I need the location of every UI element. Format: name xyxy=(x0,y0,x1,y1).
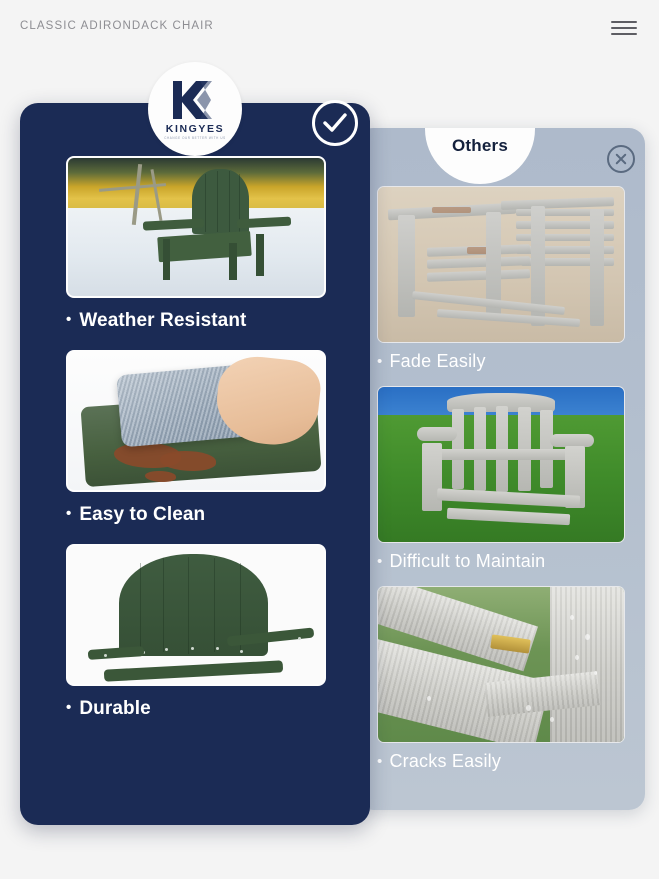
list-item: •Difficult to Maintain xyxy=(377,386,625,572)
product-comparison-page: CLASSIC ADIRONDACK CHAIR Others xyxy=(0,0,659,879)
close-circle-icon[interactable] xyxy=(607,145,635,173)
check-icon xyxy=(323,112,347,134)
weathered-grey-chair-on-grass-near-water-photo xyxy=(377,386,625,543)
brand-name: KINGYES xyxy=(166,123,224,135)
bullet-icon: • xyxy=(66,699,71,716)
cons-item-label: •Fade Easily xyxy=(377,351,625,372)
cons-item-label: •Difficult to Maintain xyxy=(377,551,625,572)
hamburger-line xyxy=(611,33,637,35)
bullet-icon: • xyxy=(377,353,382,370)
pros-item-label: •Weather Resistant xyxy=(66,310,326,332)
hamburger-line xyxy=(611,27,637,29)
page-title: CLASSIC ADIRONDACK CHAIR xyxy=(20,20,214,32)
brand-tagline: CHANGE OUR BETTER WITH US xyxy=(164,135,226,139)
check-circle-icon[interactable] xyxy=(312,100,358,146)
brand-logo: KINGYES CHANGE OUR BETTER WITH US xyxy=(148,62,242,156)
pros-item-label: •Easy to Clean xyxy=(66,504,326,526)
cons-item-label: •Cracks Easily xyxy=(377,751,625,772)
bullet-icon: • xyxy=(66,505,71,522)
green-chair-in-snow-photo xyxy=(66,156,326,298)
top-bar: CLASSIC ADIRONDACK CHAIR xyxy=(0,0,659,56)
wiping-stain-off-chair-photo xyxy=(66,350,326,492)
bullet-icon: • xyxy=(66,311,71,328)
cracked-grey-board-with-loose-brass-screw-photo xyxy=(377,586,625,743)
faded-grey-weathered-wood-chair-on-sand-photo xyxy=(377,186,625,343)
list-item: •Weather Resistant xyxy=(66,156,326,332)
pros-list: •Weather Resistant •Easy to Clean xyxy=(66,156,326,738)
list-item: •Easy to Clean xyxy=(66,350,326,526)
list-item: •Cracks Easily xyxy=(377,586,625,772)
bullet-icon: • xyxy=(377,753,382,770)
hamburger-line xyxy=(611,21,637,23)
pros-item-label: •Durable xyxy=(66,698,326,720)
bullet-icon: • xyxy=(377,553,382,570)
k-monogram-icon xyxy=(167,79,223,121)
cons-list: •Fade Easily xyxy=(377,186,625,786)
list-item: •Durable xyxy=(66,544,326,720)
cons-card-tab-label: Others xyxy=(452,136,508,156)
hamburger-menu-icon[interactable] xyxy=(611,19,637,37)
green-chair-fan-back-closeup-photo xyxy=(66,544,326,686)
list-item: •Fade Easily xyxy=(377,186,625,372)
